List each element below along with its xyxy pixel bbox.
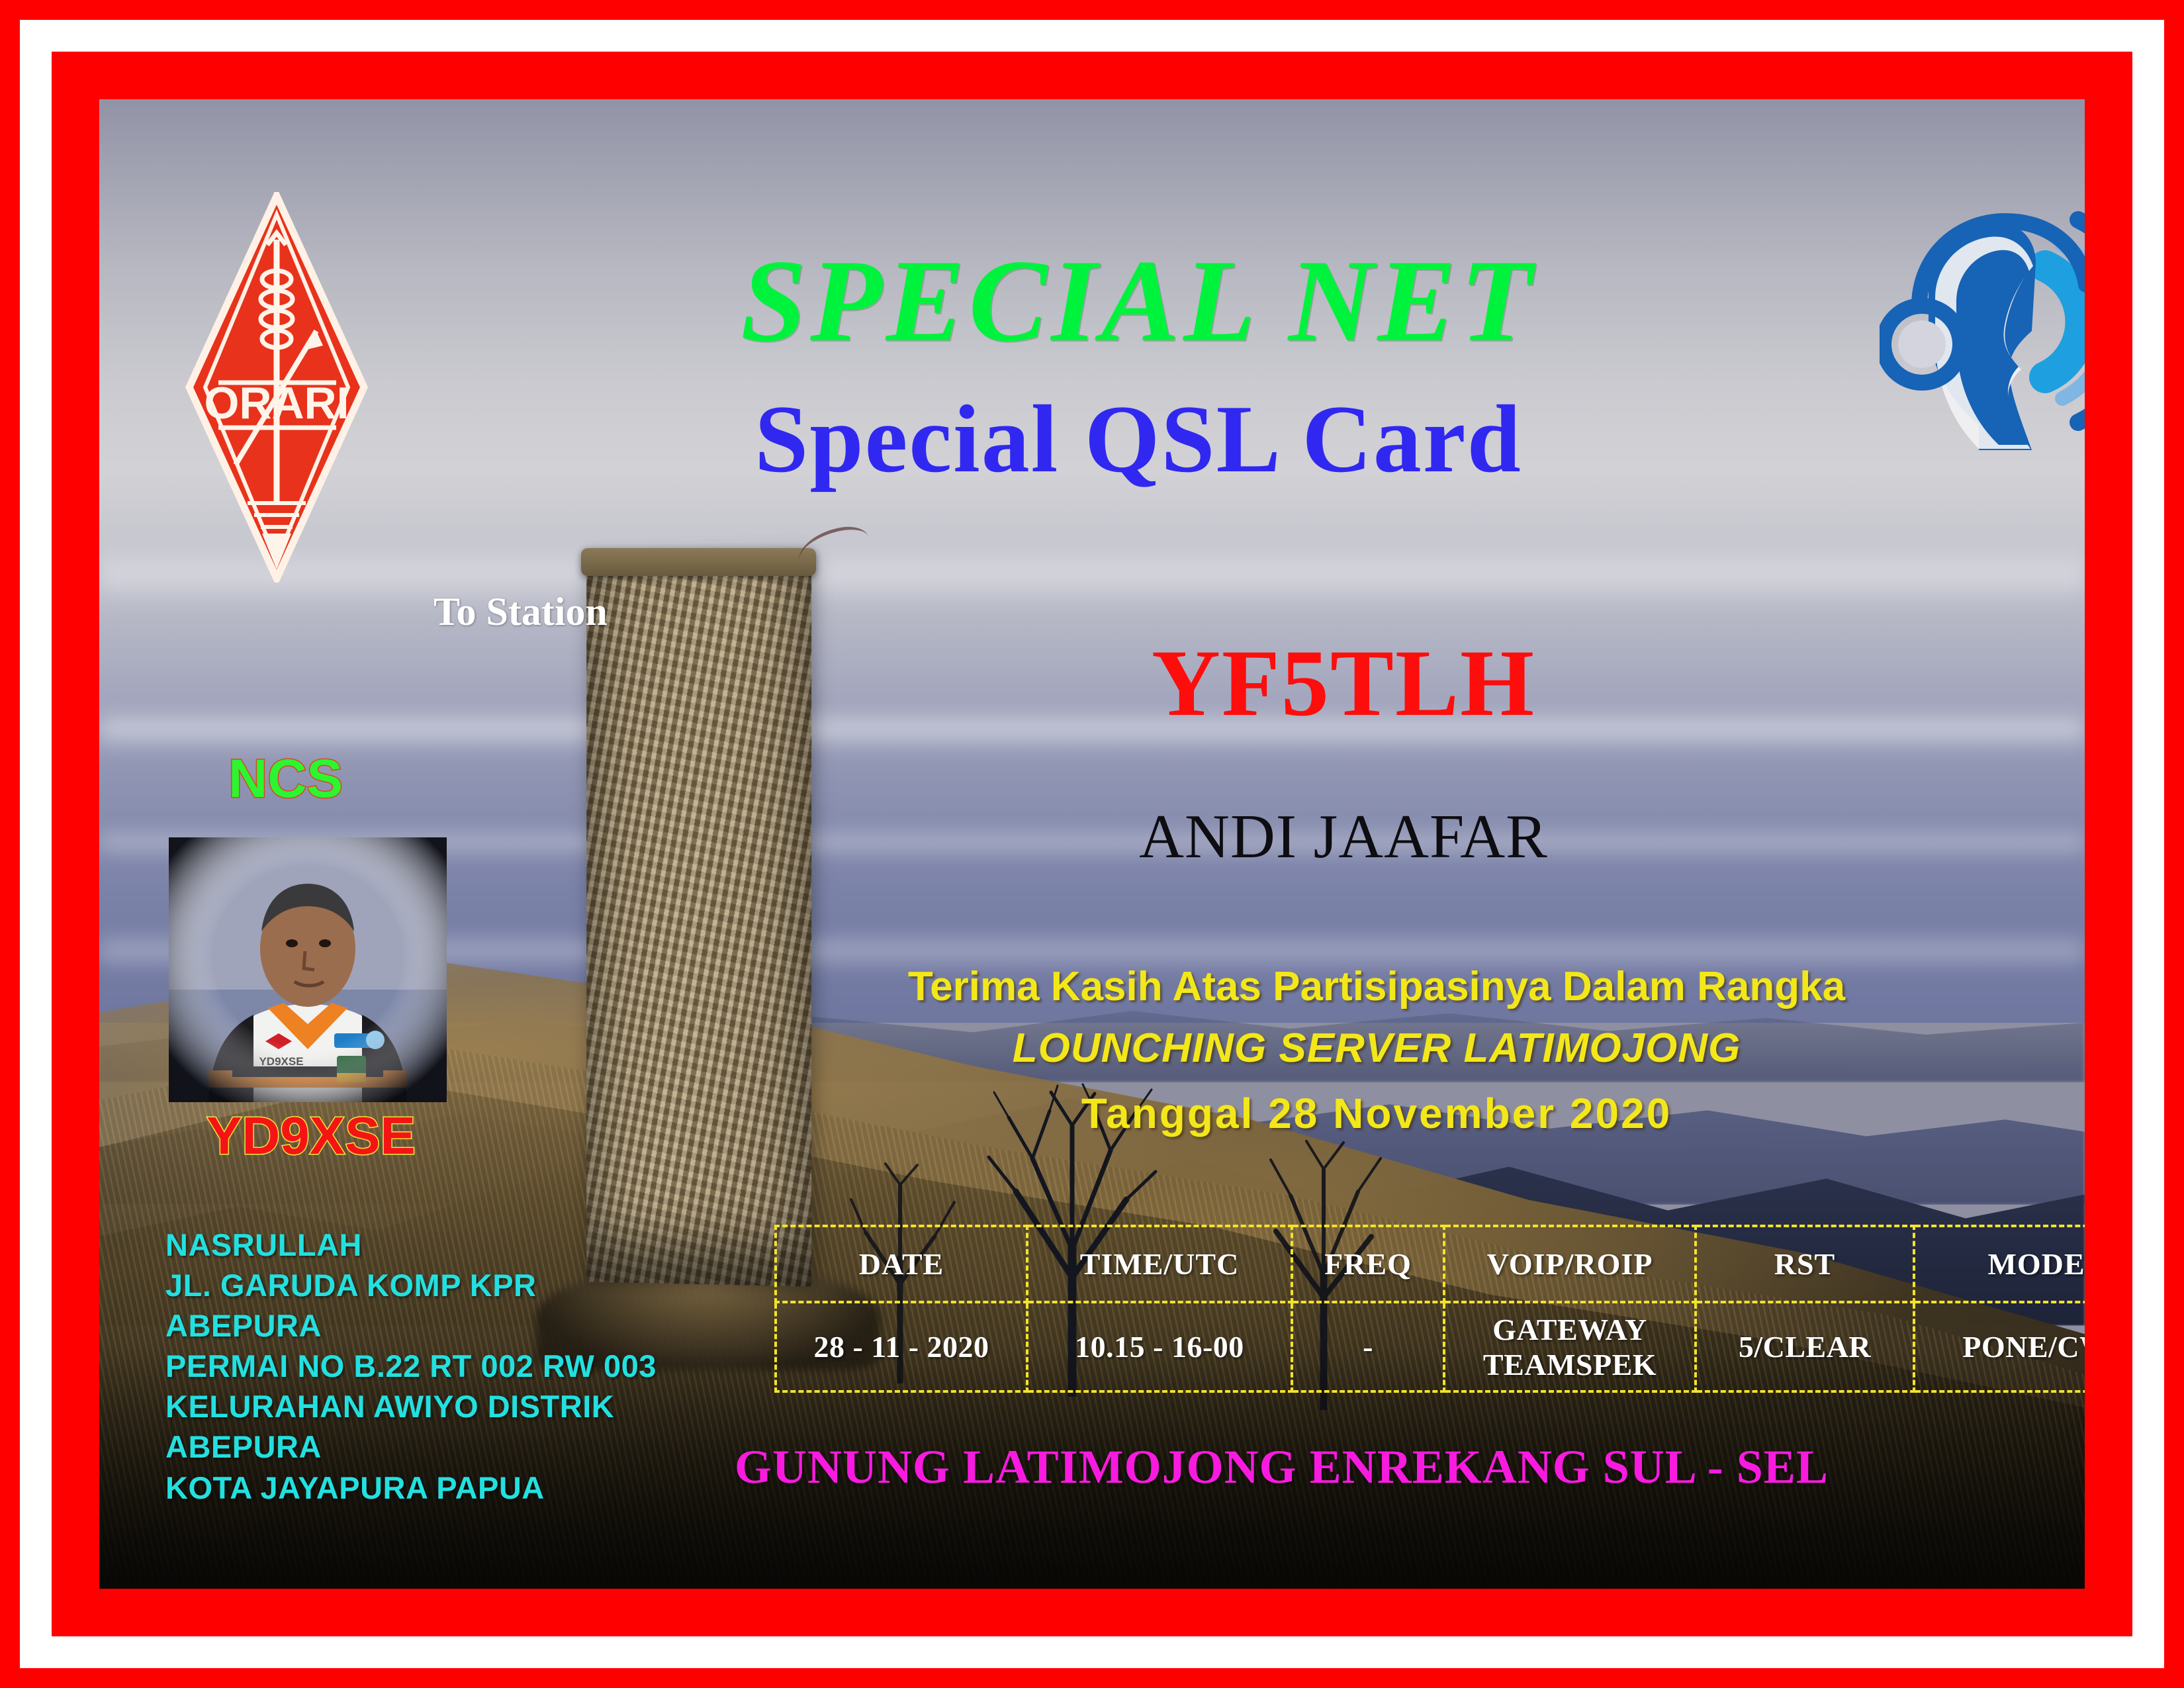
table-row: 28 - 11 - 2020 10.15 - 16-00 - GATEWAY T…	[776, 1302, 2085, 1391]
qsl-card-outer-frame: ORARI	[0, 0, 2184, 1688]
page-subtitle-qsl-card: Special QSL Card	[510, 391, 1767, 487]
address-line: NASRULLAH	[165, 1225, 708, 1265]
column-header-date: DATE	[776, 1226, 1027, 1302]
thanks-line-1: Terima Kasih Atas Partisipasinya Dalam R…	[748, 963, 2005, 1010]
ncs-address-block: NASRULLAH JL. GARUDA KOMP KPR ABEPURA PE…	[165, 1225, 708, 1508]
cell-rst: 5/CLEAR	[1696, 1302, 1914, 1391]
qsl-card-inner-red-frame: ORARI	[52, 52, 2132, 1636]
table-header-row: DATE TIME/UTC FREQ VOIP/ROIP RST MODE	[776, 1226, 2085, 1302]
cell-voip-line-2: TEAMSPEK	[1445, 1347, 1694, 1382]
qsl-card-white-frame: ORARI	[20, 20, 2164, 1668]
address-line: KELURAHAN AWIYO DISTRIK	[165, 1386, 708, 1427]
ncs-callsign-label: YD9XSE	[192, 1105, 430, 1166]
qsl-card-photo-area: ORARI	[99, 99, 2085, 1589]
address-line: ABEPURA	[165, 1305, 708, 1346]
orari-logo: ORARI	[184, 192, 369, 583]
headphone-face-waves-logo	[1880, 192, 2085, 450]
cell-time: 10.15 - 16-00	[1027, 1302, 1292, 1391]
ncs-portrait-photo: YD9XSE	[169, 837, 447, 1102]
column-header-time-utc: TIME/UTC	[1027, 1226, 1292, 1302]
address-line: ABEPURA	[165, 1427, 708, 1467]
cell-voip: GATEWAY TEAMSPEK	[1444, 1302, 1696, 1391]
to-station-label: To Station	[433, 589, 608, 635]
cell-voip-line-1: GATEWAY	[1445, 1312, 1694, 1347]
cell-mode: PONE/CW	[1914, 1302, 2085, 1391]
column-header-voip-roip: VOIP/ROIP	[1444, 1226, 1696, 1302]
address-line: JL. GARUDA KOMP KPR	[165, 1265, 708, 1305]
address-line: KOTA JAYAPURA PAPUA	[165, 1468, 708, 1508]
cell-date: 28 - 11 - 2020	[776, 1302, 1027, 1391]
ncs-role-label: NCS	[228, 748, 343, 810]
orari-logo-text: ORARI	[204, 378, 349, 428]
column-header-freq: FREQ	[1292, 1226, 1444, 1302]
thanks-block: Terima Kasih Atas Partisipasinya Dalam R…	[748, 963, 2005, 1138]
column-header-rst: RST	[1696, 1226, 1914, 1302]
thanks-line-3: Tanggal 28 November 2020	[748, 1089, 2005, 1138]
address-line: PERMAI NO B.22 RT 002 RW 003	[165, 1346, 708, 1386]
thanks-line-2: LOUNCHING SERVER LATIMOJONG	[748, 1025, 2005, 1072]
cell-freq: -	[1292, 1302, 1444, 1391]
station-operator-name: ANDI JAAFAR	[1013, 801, 1674, 872]
qso-log-table: DATE TIME/UTC FREQ VOIP/ROIP RST MODE 28…	[774, 1225, 2085, 1393]
location-caption: GUNUNG LATIMOJONG ENREKANG SUL - SEL	[735, 1440, 1992, 1495]
page-title-special-net: SPECIAL NET	[510, 242, 1767, 359]
column-header-mode: MODE	[1914, 1226, 2085, 1302]
station-callsign: YF5TLH	[1013, 629, 1674, 738]
